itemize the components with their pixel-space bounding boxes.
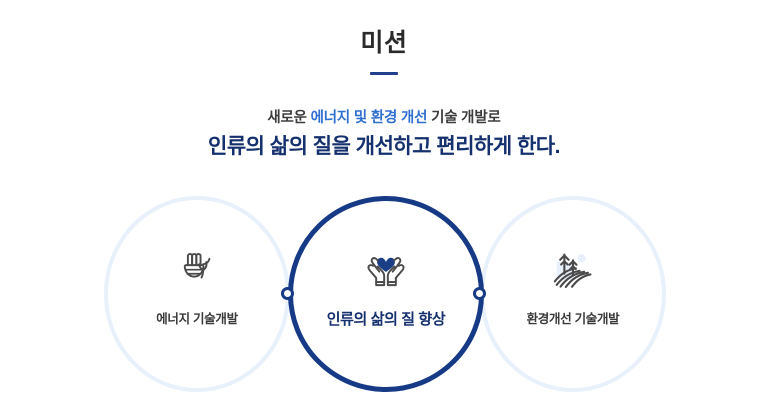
mission-item-label-energy: 에너지 기술개발 bbox=[97, 308, 297, 327]
mission-section: 미션 새로운 에너지 및 환경 개선 기술 개발로 인류의 삶의 질을 개선하고… bbox=[0, 0, 768, 407]
hands-holding-heart-icon bbox=[286, 242, 486, 294]
connector-knob-left-icon bbox=[281, 287, 294, 300]
subtitle-text-post: 기술 개발로 bbox=[427, 110, 500, 126]
title-underline-rule bbox=[370, 72, 398, 75]
subtitle-line-1: 새로운 에너지 및 환경 개선 기술 개발로 bbox=[0, 108, 768, 129]
connector-knob-right-icon bbox=[473, 287, 486, 300]
subtitle-text-pre: 새로운 bbox=[267, 110, 310, 126]
mission-item-quality-of-life[interactable]: 인류의 삶의 질 향상 bbox=[286, 242, 486, 329]
subtitle-line-2: 인류의 삶의 질을 개선하고 편리하게 한다. bbox=[0, 131, 768, 163]
subtitle-block: 새로운 에너지 및 환경 개선 기술 개발로 인류의 삶의 질을 개선하고 편리… bbox=[0, 108, 768, 163]
page-title: 미션 bbox=[0, 28, 768, 58]
mission-item-label-quality-of-life: 인류의 삶의 질 향상 bbox=[286, 308, 486, 329]
heading-block: 미션 bbox=[0, 28, 768, 75]
mission-circles-diagram: 에너지 기술개발 인류의 삶의 질 향상 bbox=[0, 196, 768, 396]
field-trees-landscape-icon bbox=[473, 242, 673, 294]
energy-bulb-leaf-icon bbox=[97, 242, 297, 294]
subtitle-text-accent: 에너지 및 환경 개선 bbox=[311, 110, 428, 126]
mission-item-environment[interactable]: 환경개선 기술개발 bbox=[473, 242, 673, 327]
mission-item-energy[interactable]: 에너지 기술개발 bbox=[97, 242, 297, 327]
mission-item-label-environment: 환경개선 기술개발 bbox=[473, 308, 673, 327]
